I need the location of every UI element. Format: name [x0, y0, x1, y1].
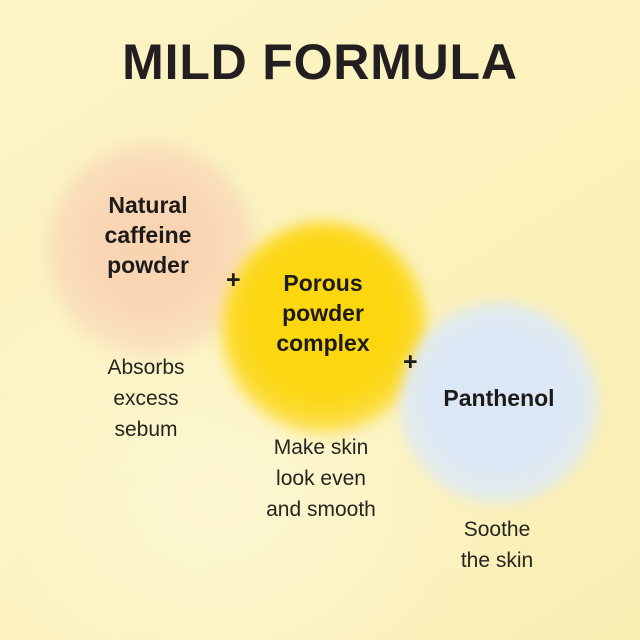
ingredient-benefit-line: look even [230, 463, 412, 494]
ingredient-name-line: Panthenol [400, 383, 598, 413]
ingredient-name-panthenol: Panthenol [400, 383, 598, 413]
ingredient-name-line: caffeine [48, 220, 248, 250]
ingredient-benefit-natural-caffeine-powder: Absorbs excess sebum [56, 352, 236, 445]
ingredient-benefit-panthenol: Soothe the skin [410, 514, 584, 576]
ingredient-name-line: Porous [224, 268, 422, 298]
ingredient-name-natural-caffeine-powder: Natural caffeine powder [48, 190, 248, 280]
ingredient-name-porous-powder-complex: Porous powder complex [224, 268, 422, 358]
ingredient-benefit-line: Absorbs [56, 352, 236, 383]
page-title: MILD FORMULA [0, 36, 640, 89]
ingredient-name-line: powder [48, 250, 248, 280]
plus-icon: + [403, 350, 418, 375]
ingredient-benefit-line: excess [56, 383, 236, 414]
ingredient-name-line: Natural [48, 190, 248, 220]
ingredient-benefit-line: sebum [56, 414, 236, 445]
ingredient-benefit-line: and smooth [230, 494, 412, 525]
mild-formula-infographic: MILD FORMULA Natural caffeine powder Abs… [0, 0, 640, 640]
ingredient-benefit-porous-powder-complex: Make skin look even and smooth [230, 432, 412, 525]
ingredient-benefit-line: the skin [410, 545, 584, 576]
ingredient-name-line: powder [224, 298, 422, 328]
ingredient-benefit-line: Make skin [230, 432, 412, 463]
ingredient-benefit-line: Soothe [410, 514, 584, 545]
ingredient-name-line: complex [224, 328, 422, 358]
